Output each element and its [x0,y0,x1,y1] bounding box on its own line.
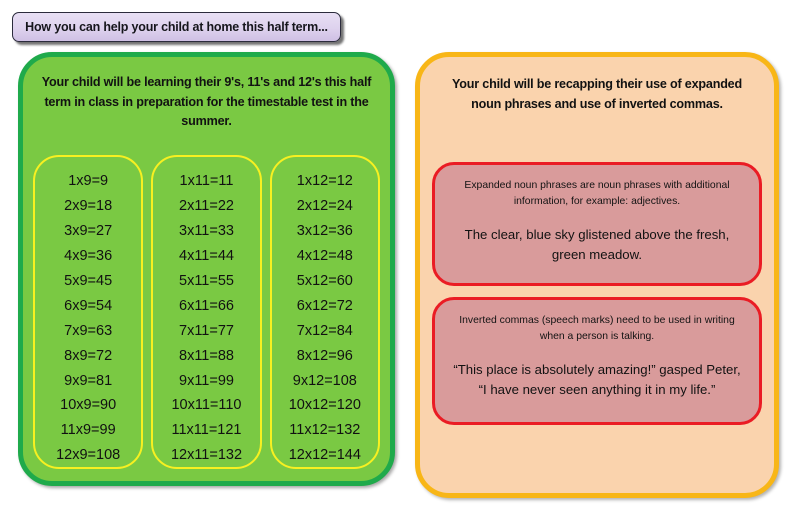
table-line: 8x11=88 [179,344,234,369]
table-line: 11x12=132 [289,418,360,443]
times-tables-row: 1x9=9 2x9=18 3x9=27 4x9=36 5x9=45 6x9=54… [33,155,380,469]
table-line: 12x12=144 [289,443,361,468]
table-line: 9x11=99 [179,369,234,394]
table-line: 6x12=72 [297,294,353,319]
table-line: 7x9=63 [64,319,112,344]
times-table-column-11: 1x11=11 2x11=22 3x11=33 4x11=44 5x11=55 … [151,155,261,469]
table-line: 8x9=72 [64,344,112,369]
table-line: 9x12=108 [293,369,357,394]
expanded-noun-phrases-box: Expanded noun phrases are noun phrases w… [432,162,762,286]
table-line: 3x11=33 [179,219,234,244]
table-line: 5x11=55 [179,269,234,294]
table-line: 9x9=81 [64,369,112,394]
maths-panel: Your child will be learning their 9's, 1… [18,52,395,486]
table-line: 2x12=24 [297,194,353,219]
table-line: 12x11=132 [171,443,242,468]
times-table-column-9: 1x9=9 2x9=18 3x9=27 4x9=36 5x9=45 6x9=54… [33,155,143,469]
table-line: 4x9=36 [64,244,112,269]
table-line: 11x11=121 [171,418,241,443]
table-line: 6x9=54 [64,294,112,319]
expanded-noun-phrases-example: The clear, blue sky glistened above the … [451,225,743,265]
table-line: 1x11=11 [180,169,234,194]
table-line: 1x12=12 [297,169,353,194]
page-title-banner: How you can help your child at home this… [12,12,341,42]
table-line: 1x9=9 [68,169,108,194]
times-table-column-12: 1x12=12 2x12=24 3x12=36 4x12=48 5x12=60 … [270,155,380,469]
table-line: 3x12=36 [297,219,353,244]
table-line: 12x9=108 [56,443,120,468]
table-line: 3x9=27 [64,219,112,244]
page-title: How you can help your child at home this… [25,20,328,34]
table-line: 10x9=90 [60,393,116,418]
inverted-commas-example: “This place is absolutely amazing!” gasp… [451,360,743,400]
table-line: 7x11=77 [179,319,234,344]
table-line: 8x12=96 [297,344,353,369]
table-line: 7x12=84 [297,319,353,344]
table-line: 2x9=18 [64,194,112,219]
expanded-noun-phrases-explanation: Expanded noun phrases are noun phrases w… [451,178,743,211]
table-line: 10x12=120 [289,393,361,418]
table-line: 11x9=99 [61,418,116,443]
english-panel-heading: Your child will be recapping their use o… [442,74,752,114]
table-line: 6x11=66 [179,294,234,319]
table-line: 2x11=22 [179,194,234,219]
table-line: 10x11=110 [171,393,241,418]
inverted-commas-box: Inverted commas (speech marks) need to b… [432,297,762,425]
maths-panel-heading: Your child will be learning their 9's, 1… [37,73,376,132]
inverted-commas-explanation: Inverted commas (speech marks) need to b… [451,313,743,346]
table-line: 5x12=60 [297,269,353,294]
table-line: 5x9=45 [64,269,112,294]
english-panel: Your child will be recapping their use o… [415,52,779,498]
table-line: 4x11=44 [179,244,234,269]
table-line: 4x12=48 [297,244,353,269]
